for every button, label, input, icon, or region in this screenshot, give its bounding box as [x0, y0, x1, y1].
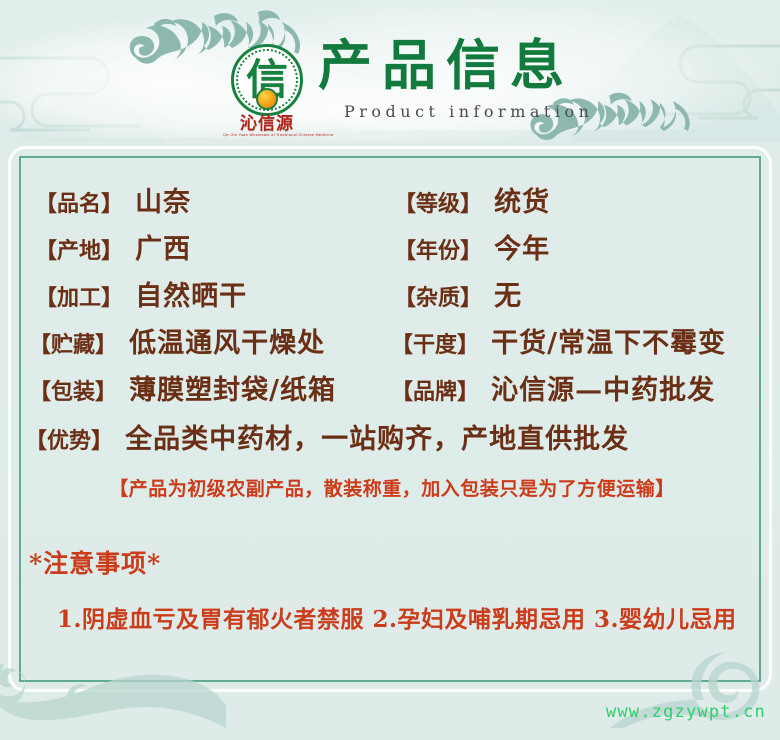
- logo-brand-name: 沁信源: [223, 116, 311, 133]
- spec-key: 【包装】: [29, 379, 117, 405]
- spec-value: 统货: [494, 187, 550, 218]
- page-subtitle: Product information: [344, 104, 593, 120]
- logo-orange-dot-icon: [256, 88, 278, 110]
- advantage-key: 【优势】: [25, 428, 113, 454]
- spec-value: 山奈: [135, 187, 191, 218]
- spec-key: 【贮藏】: [29, 332, 117, 358]
- spec-value: 沁信源—中药批发: [491, 375, 715, 406]
- advantage-value: 全品类中药材，一站购齐，产地直供批发: [125, 424, 629, 455]
- spec-key: 【加工】: [35, 285, 123, 311]
- spec-key: 【杂质】: [394, 285, 482, 311]
- content-panel: 【品名】 山奈 【等级】 统货 【产地】 广西 【年份】 今年: [19, 156, 761, 682]
- spec-key: 【年份】: [394, 238, 482, 264]
- spec-rows: 【品名】 山奈 【等级】 统货 【产地】 广西 【年份】 今年: [21, 158, 763, 684]
- spec-value: 薄膜塑封袋/纸箱: [129, 375, 336, 406]
- cloud-line-motif-right: [638, 20, 780, 130]
- product-info-page: 信 沁信源 Qin Xin Yuan Wholesale of Traditio…: [0, 0, 780, 740]
- site-watermark: www.zgzywpt.cn: [606, 704, 766, 721]
- page-header: 信 沁信源 Qin Xin Yuan Wholesale of Traditio…: [0, 0, 780, 142]
- spec-key: 【等级】: [394, 191, 482, 217]
- spec-value: 无: [494, 281, 522, 312]
- spec-key: 【品牌】: [391, 379, 479, 405]
- cloud-line-motif-left: [0, 36, 170, 142]
- logo-brand-tagline: Qin Xin Yuan Wholesale of Traditional Ch…: [223, 134, 311, 138]
- mountain-decoration-left: [0, 58, 180, 142]
- spec-value: 广西: [135, 234, 191, 265]
- page-title: 产品信息: [318, 38, 574, 92]
- spec-key: 【干度】: [391, 332, 479, 358]
- spec-key: 【品名】: [35, 191, 123, 217]
- warning-title: *注意事项*: [29, 544, 161, 580]
- spec-value: 今年: [494, 234, 550, 265]
- mountain-decoration: [560, 0, 780, 142]
- spec-value: 干货/常温下不霉变: [491, 328, 726, 359]
- spec-value: 自然晒干: [135, 281, 247, 312]
- spec-key: 【产地】: [35, 238, 123, 264]
- warning-body: 1.阴虚血亏及胃有郁火者禁服 2.孕妇及哺乳期忌用 3.婴幼儿忌用: [57, 606, 747, 634]
- spec-value: 低温通风干燥处: [129, 328, 325, 359]
- product-note: 【产品为初级农副产品，散装称重，加入包装只是为了方便运输】: [21, 474, 763, 501]
- brand-logo: 信 沁信源 Qin Xin Yuan Wholesale of Traditio…: [223, 44, 311, 132]
